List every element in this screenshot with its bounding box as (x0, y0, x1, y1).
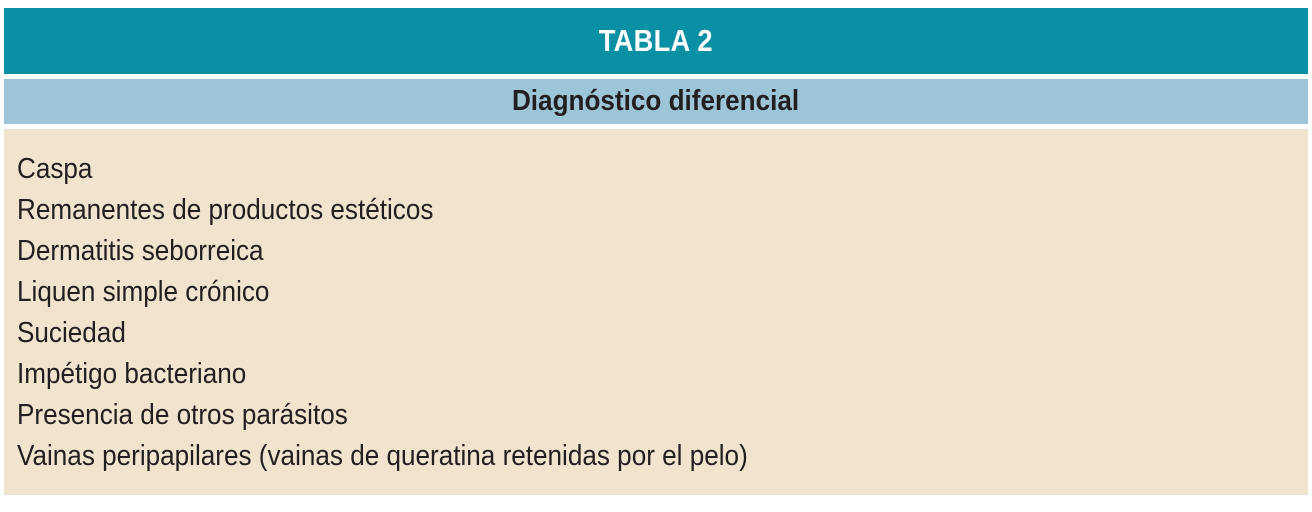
table-subtitle-band: Diagnóstico diferencial (4, 79, 1308, 124)
table-figure: TABLA 2 Diagnóstico diferencial Caspa Re… (4, 8, 1308, 495)
list-item: Remanentes de productos estéticos (17, 190, 1179, 231)
list-item: Dermatitis seborreica (17, 231, 1179, 272)
list-item: Caspa (17, 149, 1179, 190)
table-title-band: TABLA 2 (4, 8, 1308, 74)
list-item: Presencia de otros parásitos (17, 395, 1179, 436)
list-item: Suciedad (17, 313, 1179, 354)
list-item: Liquen simple crónico (17, 272, 1179, 313)
table-number-title: TABLA 2 (599, 23, 713, 59)
differential-diagnosis-list: Caspa Remanentes de productos estéticos … (4, 149, 1308, 477)
table-column-header: Diagnóstico diferencial (512, 85, 799, 118)
list-item: Impétigo bacteriano (17, 354, 1179, 395)
table-body-band: Caspa Remanentes de productos estéticos … (4, 129, 1308, 495)
list-item: Vainas peripapilares (vainas de queratin… (17, 436, 1179, 477)
